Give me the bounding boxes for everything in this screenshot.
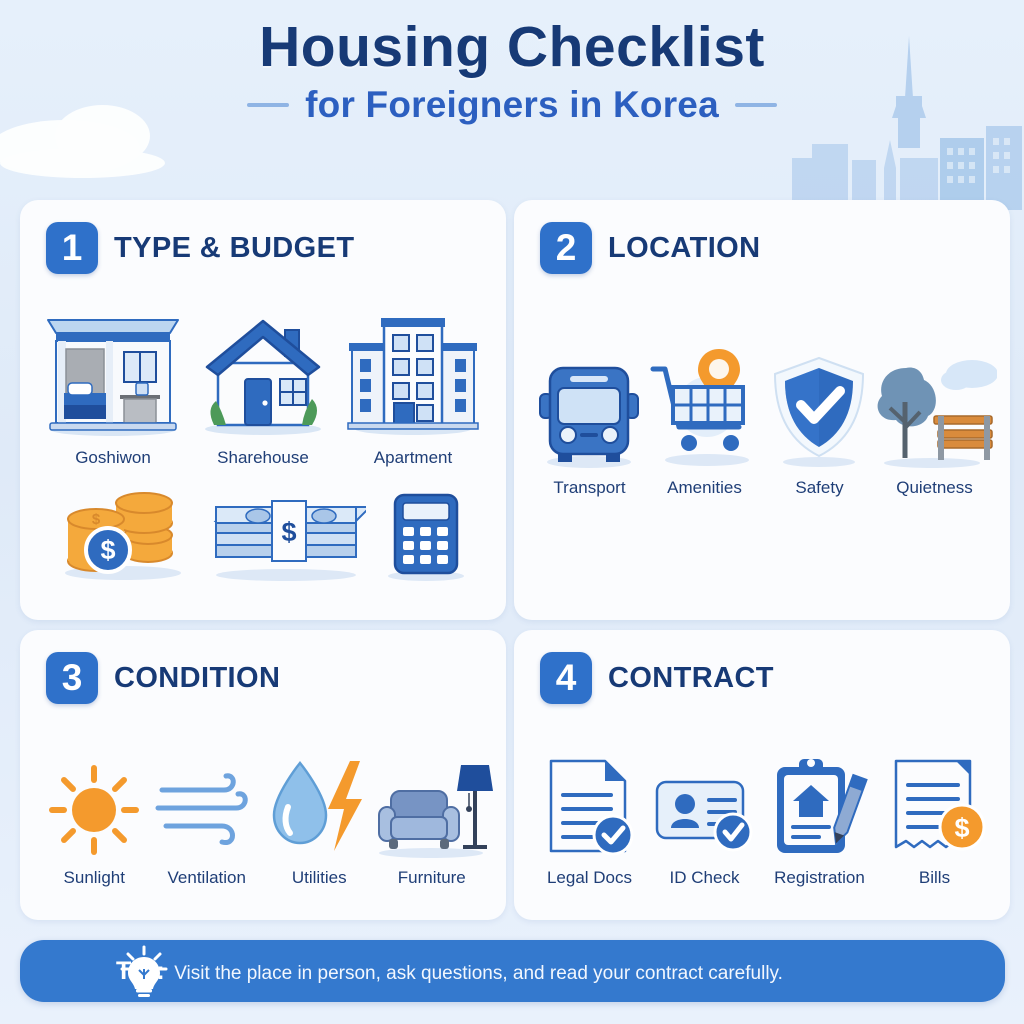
item-safety[interactable]: Safety <box>764 330 874 498</box>
item-ventilation[interactable]: Ventilation <box>153 742 261 888</box>
item-legal-docs[interactable]: Legal Docs <box>534 742 644 888</box>
item-id-check[interactable]: ID Check <box>649 742 759 888</box>
item-quietness[interactable]: Quietness <box>879 330 989 498</box>
item-utilities[interactable]: Utilities <box>265 742 373 888</box>
coin-stack-icon: $ $ <box>56 475 191 588</box>
tree-bench-icon <box>872 350 997 470</box>
document-check-icon <box>539 755 639 860</box>
card-title: CONTRACT <box>608 662 774 695</box>
page-title: Housing Checklist <box>0 18 1024 78</box>
card-title: CONDITION <box>114 662 280 695</box>
cash-bundle-icon: $ <box>206 483 366 588</box>
item-label: Quietness <box>896 478 973 498</box>
card-number-badge: 1 <box>46 222 98 274</box>
item-label: Sunlight <box>64 868 125 888</box>
shopping-cart-pin-icon <box>645 345 765 470</box>
calculator-icon <box>381 483 471 588</box>
tip-bar: TIP: Visit the place in person, ask ques… <box>20 940 1005 1002</box>
card-title: TYPE & BUDGET <box>114 232 354 265</box>
title-dash-left <box>247 103 289 107</box>
tip-text: Visit the place in person, ask questions… <box>174 963 783 985</box>
card-type-and-budget[interactable]: 1 TYPE & BUDGET <box>20 200 506 620</box>
goshiwon-room-icon <box>38 305 188 440</box>
svg-text:$: $ <box>281 517 296 547</box>
item-furniture[interactable]: Furniture <box>378 742 486 888</box>
water-drop-bolt-icon <box>264 755 374 860</box>
item-label: Registration <box>774 868 865 888</box>
item-label: Legal Docs <box>547 868 632 888</box>
card-location[interactable]: 2 LOCATION <box>514 200 1010 620</box>
card-number-badge: 3 <box>46 652 98 704</box>
item-label: Sharehouse <box>217 448 309 468</box>
page-header: Housing Checklist for Foreigners in Kore… <box>0 18 1024 126</box>
card-title: LOCATION <box>608 232 760 265</box>
item-label: Amenities <box>667 478 742 498</box>
item-label: Ventilation <box>168 868 246 888</box>
checklist-grid: 1 TYPE & BUDGET <box>20 200 1005 920</box>
receipt-coin-icon: $ <box>882 755 987 860</box>
item-label: Utilities <box>292 868 347 888</box>
clipboard-house-pen-icon <box>767 755 872 860</box>
house-icon <box>188 305 338 440</box>
apartment-building-icon <box>338 305 488 440</box>
id-card-check-icon <box>649 760 759 860</box>
item-label: Bills <box>919 868 950 888</box>
item-bills[interactable]: $ Bills <box>879 742 989 888</box>
item-label: ID Check <box>670 868 740 888</box>
item-label: Furniture <box>398 868 466 888</box>
lightbulb-icon <box>120 945 168 997</box>
item-label: Transport <box>553 478 625 498</box>
item-apartment[interactable]: Apartment <box>343 300 483 468</box>
item-registration[interactable]: Registration <box>764 742 874 888</box>
card-contract[interactable]: 4 CONTRACT <box>514 630 1010 920</box>
item-label: Goshiwon <box>75 448 151 468</box>
title-dash-right <box>735 103 777 107</box>
shield-check-icon <box>767 350 872 470</box>
item-goshiwon[interactable]: Goshiwon <box>43 300 183 468</box>
budget-illustration-row: $ $ <box>38 468 488 594</box>
page-subtitle: for Foreigners in Korea <box>305 84 719 126</box>
card-number-badge: 4 <box>540 652 592 704</box>
bus-icon <box>534 350 644 470</box>
card-condition[interactable]: 3 CONDITION <box>20 630 506 920</box>
wind-icon <box>152 760 262 860</box>
item-amenities[interactable]: Amenities <box>649 330 759 498</box>
item-sharehouse[interactable]: Sharehouse <box>193 300 333 468</box>
armchair-lamp-icon <box>369 755 494 860</box>
item-label: Safety <box>795 478 843 498</box>
svg-text:$: $ <box>91 511 100 528</box>
item-sunlight[interactable]: Sunlight <box>40 742 148 888</box>
svg-text:$: $ <box>954 813 969 843</box>
sun-icon <box>44 760 144 860</box>
card-number-badge: 2 <box>540 222 592 274</box>
item-transport[interactable]: Transport <box>534 330 644 498</box>
item-label: Apartment <box>374 448 452 468</box>
svg-text:$: $ <box>100 535 115 565</box>
